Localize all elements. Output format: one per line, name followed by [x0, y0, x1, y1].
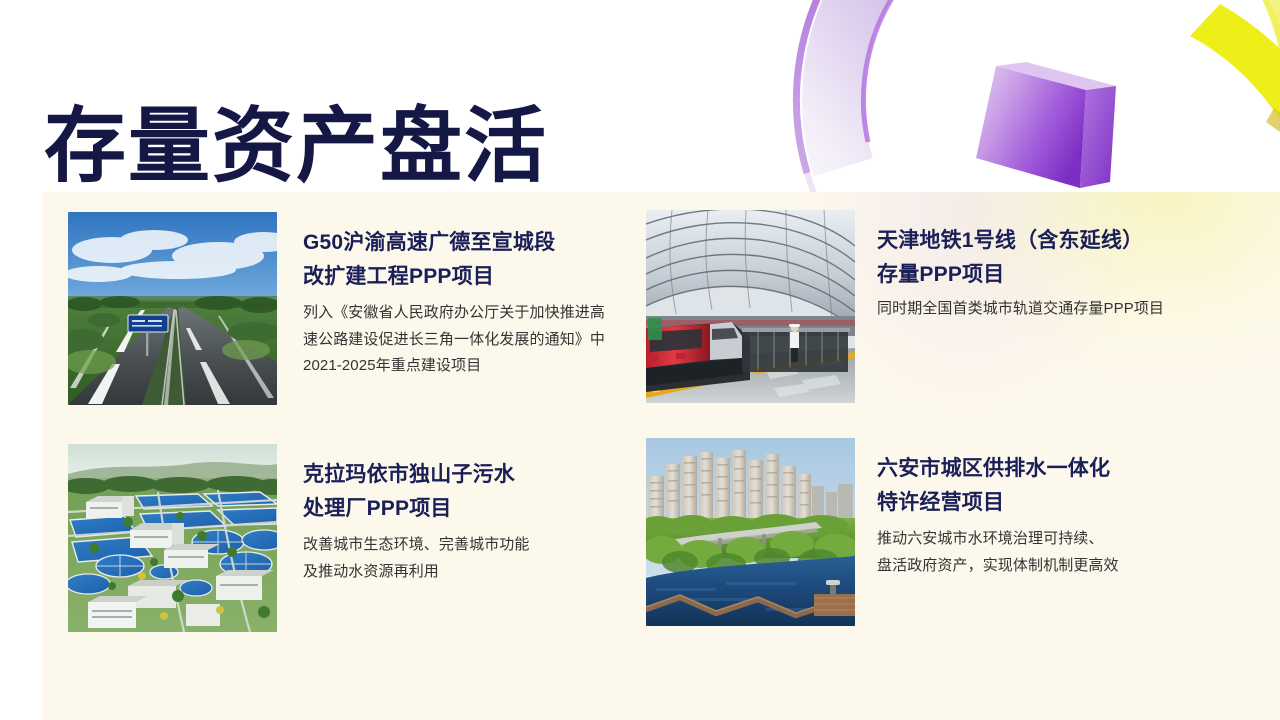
card-body: 克拉玛依市独山子污水 处理厂PPP项目 改善城市生态环境、完善城市功能 及推动水…	[277, 444, 628, 585]
project-card[interactable]: 天津地铁1号线（含东延线） 存量PPP项目 同时期全国首类城市轨道交通存量PPP…	[646, 210, 1276, 403]
page-title: 存量资产盘活	[44, 101, 548, 193]
card-description: 同时期全国首类城市轨道交通存量PPP项目	[877, 296, 1276, 323]
highway-photo	[68, 212, 277, 405]
card-title: 克拉玛依市独山子污水 处理厂PPP项目	[303, 458, 628, 526]
metro-station-photo	[646, 210, 855, 403]
card-body: 六安市城区供排水一体化 特许经营项目 推动六安城市水环境治理可持续、 盘活政府资…	[855, 438, 1276, 579]
ring-yellow-arc	[1060, 0, 1280, 142]
content-panel: G50沪渝高速广德至宣城段 改扩建工程PPP项目 列入《安徽省人民政府办公厅关于…	[42, 192, 1280, 720]
card-title: 六安市城区供排水一体化 特许经营项目	[877, 452, 1276, 520]
slide-root: 存量资产盘活	[0, 0, 1280, 720]
card-body: 天津地铁1号线（含东延线） 存量PPP项目 同时期全国首类城市轨道交通存量PPP…	[855, 210, 1276, 323]
city-waterfront-photo	[646, 438, 855, 626]
project-cards-grid: G50沪渝高速广德至宣城段 改扩建工程PPP项目 列入《安徽省人民政府办公厅关于…	[42, 192, 1280, 720]
project-card[interactable]: 六安市城区供排水一体化 特许经营项目 推动六安城市水环境治理可持续、 盘活政府资…	[646, 438, 1276, 626]
card-body: G50沪渝高速广德至宣城段 改扩建工程PPP项目 列入《安徽省人民政府办公厅关于…	[277, 212, 628, 380]
card-title: 天津地铁1号线（含东延线） 存量PPP项目	[877, 224, 1276, 292]
card-title: G50沪渝高速广德至宣城段 改扩建工程PPP项目	[303, 226, 628, 294]
wastewater-plant-photo	[68, 444, 277, 632]
card-description: 改善城市生态环境、完善城市功能 及推动水资源再利用	[303, 532, 628, 585]
project-card[interactable]: 克拉玛依市独山子污水 处理厂PPP项目 改善城市生态环境、完善城市功能 及推动水…	[68, 444, 628, 632]
ring-purple-wedge	[976, 62, 1116, 188]
card-description: 列入《安徽省人民政府办公厅关于加快推进高 速公路建设促进长三角一体化发展的通知》…	[303, 300, 628, 380]
card-description: 推动六安城市水环境治理可持续、 盘活政府资产，实现体制机制更高效	[877, 526, 1276, 579]
project-card[interactable]: G50沪渝高速广德至宣城段 改扩建工程PPP项目 列入《安徽省人民政府办公厅关于…	[68, 212, 628, 405]
ring-purple-arc	[756, 0, 1060, 190]
